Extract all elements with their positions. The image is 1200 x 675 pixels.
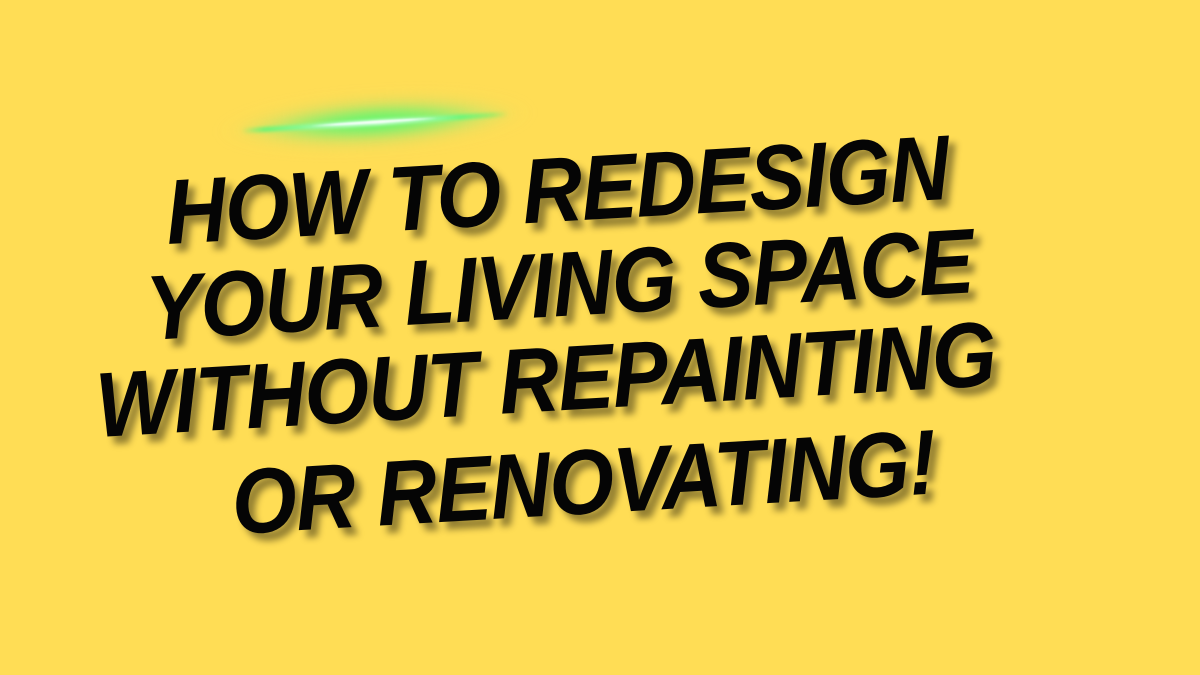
banner-canvas: HOW TO REDESIGN YOUR LIVING SPACE WITHOU… [0, 0, 1200, 675]
glow-core-line [241, 111, 509, 133]
headline-line-3: WITHOUT REPAINTING [94, 312, 998, 448]
headline-line-2: YOUR LIVING SPACE [144, 219, 976, 351]
glow-core-highlight [311, 117, 437, 128]
headline-line-1: HOW TO REDESIGN [164, 126, 951, 256]
glow-outer-halo [213, 82, 536, 162]
green-light-streak-icon [213, 82, 536, 162]
glow-inner-halo [232, 99, 517, 145]
headline-line-4: OR RENOVATING! [230, 421, 938, 546]
headline-block: HOW TO REDESIGN YOUR LIVING SPACE WITHOU… [0, 0, 1200, 675]
